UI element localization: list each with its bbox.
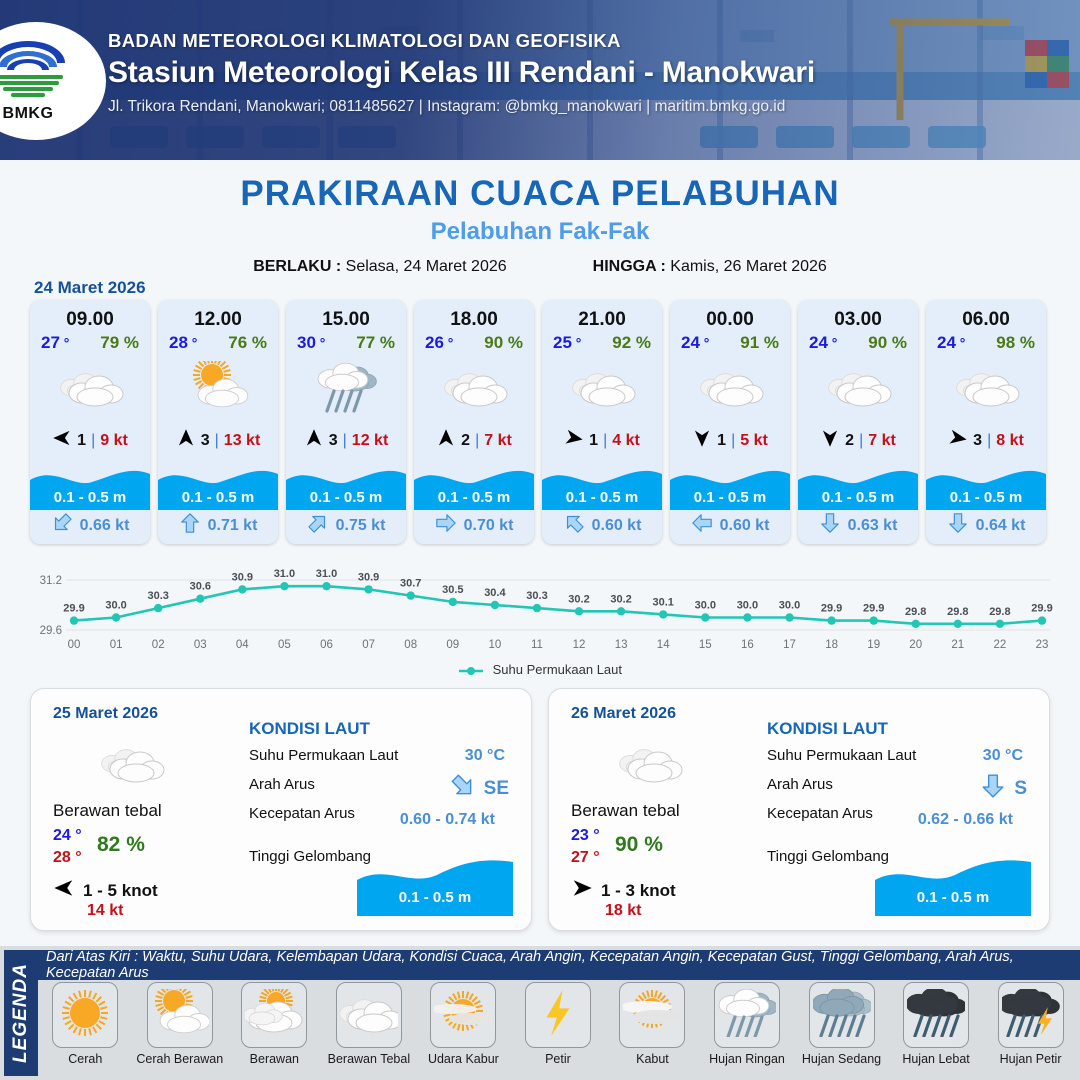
panel-temp-max: 28 ° [53, 849, 82, 867]
valid-from-value: Selasa, 24 Maret 2026 [346, 258, 507, 275]
card-weather-icon [30, 359, 150, 415]
legend-icon-box [241, 982, 307, 1048]
card-temp-value: 24 [809, 333, 828, 352]
legend-icon-box [147, 982, 213, 1048]
sst-value: 30 °C [983, 747, 1023, 765]
degree-icon: ° [444, 335, 454, 351]
current-direction-arrow-icon [819, 512, 841, 539]
wind-direction-arrow-icon [564, 428, 584, 453]
card-wave-height: 0.1 - 0.5 m [30, 489, 150, 506]
card-temp-value: 24 [937, 333, 956, 352]
card-humidity: 76 % [228, 333, 267, 353]
card-wind: 1 | 5 kt [670, 428, 790, 453]
sea-conditions-title: KONDISI LAUT [767, 719, 888, 739]
card-weather-icon [158, 359, 278, 415]
legend-item-label: Petir [513, 1052, 603, 1066]
card-weather-icon [414, 359, 534, 415]
udara-kabur-icon [434, 989, 492, 1042]
card-wind-scale: 3 [329, 432, 338, 450]
panel-condition: Berawan tebal [53, 801, 162, 821]
bmkg-logo-text: BMKG [3, 105, 54, 123]
degree-icon: ° [828, 335, 838, 351]
svg-text:30.2: 30.2 [610, 593, 631, 605]
current-direction-label: Arah Arus [767, 776, 833, 793]
current-direction-arrow-icon [691, 512, 713, 539]
separator: | [475, 432, 479, 450]
cerah-icon [56, 989, 114, 1042]
legend-item: Petir [513, 982, 603, 1066]
card-current: 0.63 kt [798, 512, 918, 539]
svg-text:03: 03 [194, 639, 207, 651]
card-current: 0.66 kt [30, 512, 150, 539]
card-temp-value: 24 [681, 333, 700, 352]
card-time: 12.00 [158, 309, 278, 331]
separator: | [603, 432, 607, 450]
svg-text:23: 23 [1036, 639, 1049, 651]
svg-text:29.8: 29.8 [905, 606, 926, 618]
legend-item: Cerah [40, 982, 130, 1066]
legend-icon-box [998, 982, 1064, 1048]
card-wind: 3 | 13 kt [158, 428, 278, 453]
svg-text:21: 21 [951, 639, 964, 651]
sst-value: 30 °C [465, 747, 505, 765]
legend-tab-label: LEGENDA [10, 963, 32, 1063]
panel-wind: 1 - 3 knot [571, 877, 676, 904]
card-time: 21.00 [542, 309, 662, 331]
svg-text:06: 06 [320, 639, 333, 651]
separator: | [91, 432, 95, 450]
card-temp-value: 30 [297, 333, 316, 352]
svg-text:29.9: 29.9 [63, 603, 84, 615]
card-humidity: 98 % [996, 333, 1035, 353]
page-subtitle: Pelabuhan Fak-Fak [0, 218, 1080, 246]
kabut-icon [623, 989, 681, 1042]
svg-text:01: 01 [110, 639, 123, 651]
current-direction-arrow-icon [563, 512, 585, 539]
sst-chart: 31.229.629.90030.00130.30230.60330.90431… [22, 558, 1058, 678]
card-temp-value: 26 [425, 333, 444, 352]
wind-direction-arrow-icon [53, 877, 75, 904]
legend-item: Hujan Petir [986, 982, 1076, 1066]
wind-direction-arrow-icon [692, 428, 712, 453]
panel-humidity: 82 % [97, 833, 145, 857]
svg-text:15: 15 [699, 639, 712, 651]
current-speed-value: 0.62 - 0.66 kt [918, 811, 1013, 829]
legend-item: Udara Kabur [418, 982, 508, 1066]
current-direction-arrow-icon [450, 773, 476, 805]
sea-conditions-title: KONDISI LAUT [249, 719, 370, 739]
title-zone: PRAKIRAAN CUACA PELABUHAN Pelabuhan Fak-… [0, 160, 1080, 276]
card-current: 0.71 kt [158, 512, 278, 539]
legend-line-marker-icon [458, 665, 484, 677]
card-time: 15.00 [286, 309, 406, 331]
card-temp-value: 27 [41, 333, 60, 352]
card-current-speed: 0.60 kt [592, 517, 642, 535]
svg-text:12: 12 [573, 639, 586, 651]
degree-icon: ° [700, 335, 710, 351]
hourly-forecast-card: 03.00 24 ° 90 % 2 | 7 kt 0.1 - 0.5 [798, 300, 918, 544]
svg-text:30.0: 30.0 [695, 600, 716, 612]
card-wind-speed: 7 kt [868, 432, 896, 450]
current-direction-value: S [1014, 778, 1027, 800]
separator: | [987, 432, 991, 450]
legend-item-label: Berawan Tebal [324, 1052, 414, 1066]
valid-from-label: BERLAKU : [253, 258, 341, 275]
legend-item: Hujan Ringan [702, 982, 792, 1066]
legend-icon-box [52, 982, 118, 1048]
separator: | [215, 432, 219, 450]
wave-height-label: Tinggi Gelombang [767, 848, 889, 865]
svg-text:30.3: 30.3 [147, 590, 168, 602]
card-temperature: 24 ° [937, 333, 965, 353]
degree-icon: ° [316, 335, 326, 351]
svg-text:08: 08 [404, 639, 417, 651]
wind-direction-arrow-icon [436, 428, 456, 453]
card-humidity: 91 % [740, 333, 779, 353]
svg-text:04: 04 [236, 639, 249, 651]
svg-text:05: 05 [278, 639, 291, 651]
current-direction-arrow-icon [307, 512, 329, 539]
degree-icon: ° [572, 335, 582, 351]
current-speed-label: Kecepatan Arus [249, 805, 355, 822]
card-wind-speed: 5 kt [740, 432, 768, 450]
card-temp-value: 28 [169, 333, 188, 352]
hourly-forecast-row: 09.00 27 ° 79 % 1 | 9 kt 0.1 - 0.5 [30, 300, 1050, 544]
hujan-sedang-icon [813, 989, 871, 1042]
card-wind-speed: 12 kt [352, 432, 388, 450]
legend-item: Hujan Sedang [797, 982, 887, 1066]
svg-text:07: 07 [362, 639, 375, 651]
separator: | [343, 432, 347, 450]
hourly-forecast-card: 06.00 24 ° 98 % 3 | 8 kt 0.1 - 0.5 [926, 300, 1046, 544]
valid-until: HINGGA : Kamis, 26 Maret 2026 [593, 258, 827, 276]
chart-legend-label: Suhu Permukaan Laut [493, 662, 622, 677]
panel-date: 25 Maret 2026 [53, 705, 158, 723]
hourly-forecast-card: 18.00 26 ° 90 % 2 | 7 kt 0.1 - 0.5 [414, 300, 534, 544]
svg-text:22: 22 [994, 639, 1007, 651]
panel-wave-band: 0.1 - 0.5 m [875, 858, 1031, 916]
svg-text:30.2: 30.2 [568, 593, 589, 605]
panel-temp-min: 23 ° [571, 827, 600, 845]
wave-height-label: Tinggi Gelombang [249, 848, 371, 865]
card-current: 0.60 kt [670, 512, 790, 539]
card-wind-scale: 3 [973, 432, 982, 450]
card-time: 18.00 [414, 309, 534, 331]
legend-icon-box [619, 982, 685, 1048]
svg-text:30.0: 30.0 [105, 600, 126, 612]
card-wind-speed: 4 kt [612, 432, 640, 450]
card-current-speed: 0.71 kt [208, 517, 258, 535]
validity-row: BERLAKU : Selasa, 24 Maret 2026 HINGGA :… [0, 258, 1080, 276]
card-wind-speed: 8 kt [996, 432, 1024, 450]
wind-direction-arrow-icon [176, 428, 196, 453]
card-current: 0.60 kt [542, 512, 662, 539]
legend-item-label: Cerah Berawan [135, 1052, 225, 1066]
current-speed-value: 0.60 - 0.74 kt [400, 811, 495, 829]
card-wind-speed: 7 kt [484, 432, 512, 450]
panel-wave-band: 0.1 - 0.5 m [357, 858, 513, 916]
current-direction-arrow-icon [947, 512, 969, 539]
station-name: Stasiun Meteorologi Kelas III Rendani - … [108, 56, 815, 90]
svg-text:30.0: 30.0 [737, 600, 758, 612]
card-temp-value: 25 [553, 333, 572, 352]
card-wave-height: 0.1 - 0.5 m [542, 489, 662, 506]
card-humidity: 92 % [612, 333, 651, 353]
hujan-petir-icon [1002, 989, 1060, 1042]
card-current-speed: 0.63 kt [848, 517, 898, 535]
card-wind-speed: 9 kt [100, 432, 128, 450]
card-current-speed: 0.60 kt [720, 517, 770, 535]
card-weather-icon [798, 359, 918, 415]
svg-text:30.1: 30.1 [652, 596, 673, 608]
svg-text:30.9: 30.9 [232, 571, 253, 583]
svg-text:00: 00 [68, 639, 81, 651]
legend-item-label: Kabut [607, 1052, 697, 1066]
panel-current-direction: SE [450, 773, 509, 805]
daily-forecast-panel: 25 Maret 2026 Berawan tebal 24 ° 28 ° 82… [30, 688, 532, 931]
panel-gust: 14 kt [87, 902, 123, 920]
panel-weather-icon [93, 737, 169, 794]
card-humidity: 90 % [868, 333, 907, 353]
petir-icon [529, 989, 587, 1042]
card-time: 00.00 [670, 309, 790, 331]
card-weather-icon [670, 359, 790, 415]
sst-label: Suhu Permukaan Laut [767, 747, 916, 764]
card-wave-height: 0.1 - 0.5 m [926, 489, 1046, 506]
card-current: 0.64 kt [926, 512, 1046, 539]
svg-text:16: 16 [741, 639, 754, 651]
panel-temp-max: 27 ° [571, 849, 600, 867]
wind-direction-arrow-icon [948, 428, 968, 453]
card-current-speed: 0.70 kt [464, 517, 514, 535]
card-temperature: 24 ° [809, 333, 837, 353]
current-direction-arrow-icon [179, 512, 201, 539]
degree-icon: ° [60, 335, 70, 351]
legend-item-label: Cerah [40, 1052, 130, 1066]
legend-icon-box [430, 982, 496, 1048]
card-wind-scale: 1 [589, 432, 598, 450]
card-temperature: 30 ° [297, 333, 325, 353]
berawan-icon [245, 989, 303, 1042]
current-direction-arrow-icon [980, 773, 1006, 805]
card-weather-icon [286, 359, 406, 415]
legend-item: Berawan [229, 982, 319, 1066]
legend-icon-box [903, 982, 969, 1048]
legend-item: Kabut [607, 982, 697, 1066]
panel-condition: Berawan tebal [571, 801, 680, 821]
svg-text:18: 18 [825, 639, 838, 651]
svg-text:30.7: 30.7 [400, 578, 421, 590]
degree-icon: ° [188, 335, 198, 351]
card-current-speed: 0.66 kt [80, 517, 130, 535]
panel-wind-range: 1 - 3 knot [601, 881, 676, 901]
valid-from: BERLAKU : Selasa, 24 Maret 2026 [253, 258, 506, 276]
daily-forecast-panel: 26 Maret 2026 Berawan tebal 23 ° 27 ° 90… [548, 688, 1050, 931]
legend-item-label: Berawan [229, 1052, 319, 1066]
valid-until-label: HINGGA : [593, 258, 666, 275]
separator: | [859, 432, 863, 450]
card-weather-icon [542, 359, 662, 415]
sst-chart-svg: 31.229.629.90030.00130.30230.60330.90431… [22, 558, 1058, 678]
current-direction-arrow-icon [435, 512, 457, 539]
card-current: 0.70 kt [414, 512, 534, 539]
svg-text:02: 02 [152, 639, 165, 651]
wind-direction-arrow-icon [571, 877, 593, 904]
panel-gust: 18 kt [605, 902, 641, 920]
legend-icon-box [809, 982, 875, 1048]
hujan-lebat-icon [907, 989, 965, 1042]
legend-item-label: Hujan Sedang [797, 1052, 887, 1066]
card-wind: 3 | 8 kt [926, 428, 1046, 453]
svg-text:30.6: 30.6 [190, 581, 211, 593]
berawan-tebal-icon [340, 989, 398, 1042]
svg-text:14: 14 [657, 639, 670, 651]
card-time: 03.00 [798, 309, 918, 331]
panel-wave-value: 0.1 - 0.5 m [875, 889, 1031, 906]
wind-direction-arrow-icon [304, 428, 324, 453]
legend-icon-box [525, 982, 591, 1048]
panel-temp-min: 24 ° [53, 827, 82, 845]
hourly-forecast-card: 00.00 24 ° 91 % 1 | 5 kt 0.1 - 0.5 [670, 300, 790, 544]
card-temperature: 28 ° [169, 333, 197, 353]
card-wind-scale: 3 [201, 432, 210, 450]
card-wave-height: 0.1 - 0.5 m [414, 489, 534, 506]
svg-text:30.3: 30.3 [526, 590, 547, 602]
svg-text:31.0: 31.0 [316, 568, 337, 580]
legend-item: Hujan Lebat [891, 982, 981, 1066]
legend-item: Cerah Berawan [135, 982, 225, 1066]
agency-name: BADAN METEOROLOGI KLIMATOLOGI DAN GEOFIS… [108, 30, 815, 52]
card-time: 09.00 [30, 309, 150, 331]
card-temperature: 25 ° [553, 333, 581, 353]
card-wave-height: 0.1 - 0.5 m [670, 489, 790, 506]
card-temperature: 24 ° [681, 333, 709, 353]
hourly-day-label: 24 Maret 2026 [34, 278, 146, 298]
panel-date: 26 Maret 2026 [571, 705, 676, 723]
page-title: PRAKIRAAN CUACA PELABUHAN [0, 174, 1080, 214]
legend-item-label: Hujan Petir [986, 1052, 1076, 1066]
svg-text:13: 13 [615, 639, 628, 651]
card-wind: 2 | 7 kt [414, 428, 534, 453]
svg-text:30.9: 30.9 [358, 571, 379, 583]
panel-wind: 1 - 5 knot [53, 877, 158, 904]
valid-until-value: Kamis, 26 Maret 2026 [670, 258, 827, 275]
svg-text:20: 20 [909, 639, 922, 651]
current-speed-label: Kecepatan Arus [767, 805, 873, 822]
bmkg-logo-mark [0, 41, 69, 103]
hourly-forecast-card: 09.00 27 ° 79 % 1 | 9 kt 0.1 - 0.5 [30, 300, 150, 544]
hourly-forecast-card: 15.00 30 ° 77 % 3 | 12 kt 0.1 - 0. [286, 300, 406, 544]
card-temperature: 26 ° [425, 333, 453, 353]
card-wind: 1 | 4 kt [542, 428, 662, 453]
svg-text:30.5: 30.5 [442, 584, 463, 596]
svg-text:19: 19 [867, 639, 880, 651]
svg-text:29.8: 29.8 [989, 606, 1010, 618]
panel-current-direction: S [980, 773, 1027, 805]
legend-item-label: Hujan Ringan [702, 1052, 792, 1066]
current-direction-value: SE [484, 778, 509, 800]
panel-wind-range: 1 - 5 knot [83, 881, 158, 901]
hourly-forecast-card: 21.00 25 ° 92 % 1 | 4 kt 0.1 - 0.5 [542, 300, 662, 544]
wind-direction-arrow-icon [52, 428, 72, 453]
svg-text:30.4: 30.4 [484, 587, 506, 599]
card-humidity: 90 % [484, 333, 523, 353]
degree-icon: ° [956, 335, 966, 351]
panel-weather-icon [611, 737, 687, 794]
card-wind-scale: 2 [461, 432, 470, 450]
wind-direction-arrow-icon [820, 428, 840, 453]
card-wind: 3 | 12 kt [286, 428, 406, 453]
hourly-forecast-card: 12.00 28 ° 76 % 3 | 13 kt 0.1 - 0.5 m [158, 300, 278, 544]
svg-text:17: 17 [783, 639, 796, 651]
card-wave-height: 0.1 - 0.5 m [158, 489, 278, 506]
svg-text:29.9: 29.9 [821, 603, 842, 615]
hujan-ringan-icon [718, 989, 776, 1042]
svg-text:31.2: 31.2 [40, 575, 62, 587]
legend-icon-box [714, 982, 780, 1048]
separator: | [731, 432, 735, 450]
card-current-speed: 0.75 kt [336, 517, 386, 535]
card-wind: 2 | 7 kt [798, 428, 918, 453]
current-direction-label: Arah Arus [249, 776, 315, 793]
sst-label: Suhu Permukaan Laut [249, 747, 398, 764]
svg-text:09: 09 [446, 639, 459, 651]
cerah-berawan-icon [151, 989, 209, 1042]
legend-tab: LEGENDA [4, 950, 38, 1076]
card-wind-scale: 2 [845, 432, 854, 450]
panel-humidity: 90 % [615, 833, 663, 857]
svg-text:29.9: 29.9 [1031, 603, 1052, 615]
card-wind-speed: 13 kt [224, 432, 260, 450]
card-current: 0.75 kt [286, 512, 406, 539]
current-direction-arrow-icon [51, 512, 73, 539]
card-wind-scale: 1 [77, 432, 86, 450]
legend-item-label: Udara Kabur [418, 1052, 508, 1066]
svg-text:29.8: 29.8 [947, 606, 968, 618]
svg-text:29.9: 29.9 [863, 603, 884, 615]
svg-text:29.6: 29.6 [40, 625, 62, 637]
card-humidity: 77 % [356, 333, 395, 353]
card-humidity: 79 % [100, 333, 139, 353]
chart-legend: Suhu Permukaan Laut [0, 662, 1080, 677]
svg-text:10: 10 [489, 639, 502, 651]
card-temperature: 27 ° [41, 333, 69, 353]
page-header: BMKG BADAN METEOROLOGI KLIMATOLOGI DAN G… [0, 0, 1080, 160]
legend-icon-box [336, 982, 402, 1048]
card-wind-scale: 1 [717, 432, 726, 450]
card-wind: 1 | 9 kt [30, 428, 150, 453]
legend-note: Dari Atas Kiri : Waktu, Suhu Udara, Kele… [38, 950, 1080, 980]
card-wave-height: 0.1 - 0.5 m [286, 489, 406, 506]
card-current-speed: 0.64 kt [976, 517, 1026, 535]
daily-forecast-panels: 25 Maret 2026 Berawan tebal 24 ° 28 ° 82… [30, 688, 1050, 931]
svg-text:11: 11 [531, 639, 543, 651]
panel-wave-value: 0.1 - 0.5 m [357, 889, 513, 906]
legend-items: Cerah Cerah Berawan Berawan [38, 982, 1078, 1066]
card-wave-height: 0.1 - 0.5 m [798, 489, 918, 506]
station-contact: Jl. Trikora Rendani, Manokwari; 08114856… [108, 98, 815, 116]
legend-item-label: Hujan Lebat [891, 1052, 981, 1066]
legend-strip: LEGENDA Dari Atas Kiri : Waktu, Suhu Uda… [0, 946, 1080, 1080]
card-weather-icon [926, 359, 1046, 415]
legend-item: Berawan Tebal [324, 982, 414, 1066]
card-time: 06.00 [926, 309, 1046, 331]
svg-text:30.0: 30.0 [779, 600, 800, 612]
svg-text:31.0: 31.0 [274, 568, 295, 580]
